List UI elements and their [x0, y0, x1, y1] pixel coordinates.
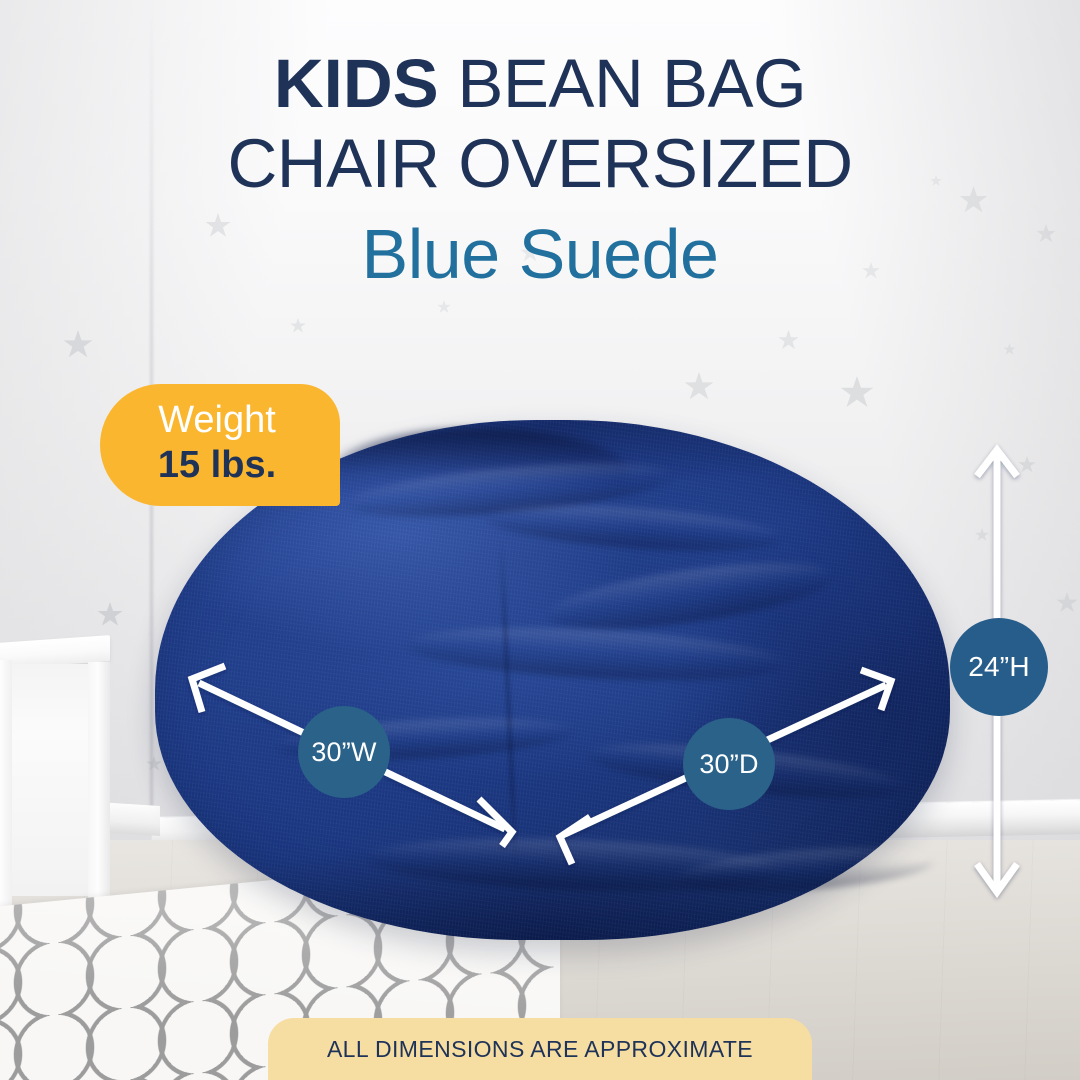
title-line-1: KIDS BEAN BAG	[0, 44, 1080, 124]
title-line-1-rest: BEAN BAG	[439, 45, 806, 122]
height-dimension-badge: 24”H	[950, 618, 1048, 716]
width-dimension-badge: 30”W	[298, 706, 390, 798]
depth-dimension-label: 30”D	[699, 749, 758, 780]
weight-badge: Weight 15 lbs.	[100, 384, 340, 506]
disclaimer-banner: ALL DIMENSIONS ARE APPROXIMATE	[268, 1018, 812, 1080]
weight-badge-value: 15 lbs.	[94, 442, 340, 488]
title-emphasis-kids: KIDS	[274, 45, 439, 122]
product-infographic: 30”W 30”D 24”H KIDS BEAN BAG CHAIR OVERS…	[0, 0, 1080, 1080]
height-dimension-label: 24”H	[968, 651, 1030, 683]
width-dimension-label: 30”W	[311, 737, 376, 768]
disclaimer-text: ALL DIMENSIONS ARE APPROXIMATE	[327, 1036, 753, 1063]
title-line-2: CHAIR OVERSIZED	[0, 124, 1080, 204]
depth-dimension-badge: 30”D	[683, 718, 775, 810]
product-color-subtitle: Blue Suede	[0, 216, 1080, 292]
page-title: KIDS BEAN BAG CHAIR OVERSIZED Blue Suede	[0, 44, 1080, 292]
weight-badge-label: Weight	[94, 398, 340, 442]
